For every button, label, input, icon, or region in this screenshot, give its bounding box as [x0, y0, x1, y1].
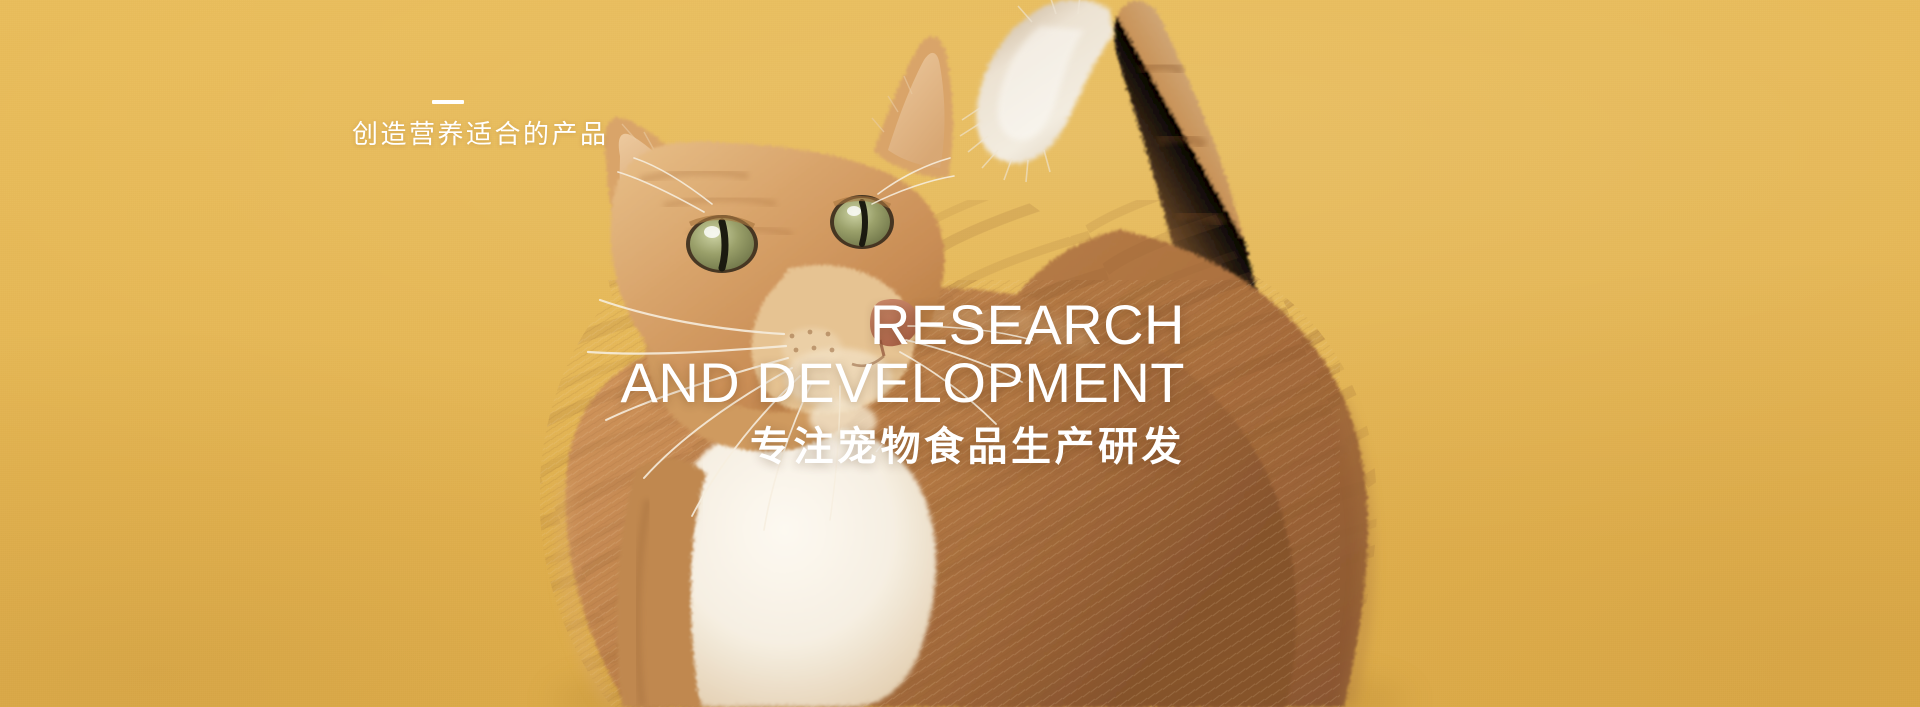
horizontal-rule-icon: [432, 100, 464, 104]
headline-english-line-1: RESEARCH: [465, 300, 1185, 350]
cat-eye-right: [830, 195, 894, 249]
hero-banner: 创造营养适合的产品 RESEARCH AND DEVELOPMENT 专注宠物食…: [0, 0, 1920, 707]
cat-tail-tip: [960, 0, 1114, 182]
headline-chinese: 专注宠物食品生产研发: [465, 425, 1185, 469]
headline-english-line-2: AND DEVELOPMENT: [465, 358, 1185, 408]
cat-eye-left: [686, 215, 758, 273]
eyebrow-block: 创造营养适合的产品: [352, 100, 772, 151]
eyebrow-text: 创造营养适合的产品: [352, 118, 772, 151]
headline-block: RESEARCH AND DEVELOPMENT 专注宠物食品生产研发: [465, 300, 1185, 469]
